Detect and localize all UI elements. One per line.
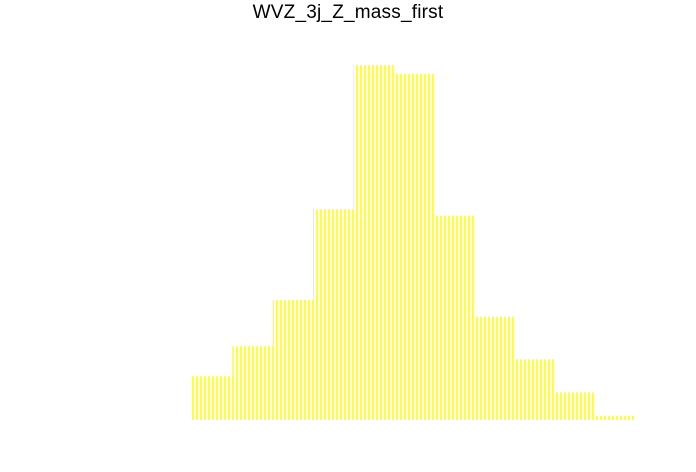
chart-canvas: WVZ_3j_Z_mass_first xyxy=(0,0,696,472)
bar xyxy=(434,216,474,420)
bar xyxy=(394,74,434,420)
bar xyxy=(232,346,272,420)
series-WZ xyxy=(192,65,636,420)
histogram-plot xyxy=(0,0,696,472)
bars-group xyxy=(192,65,636,420)
bar xyxy=(353,65,393,420)
bar xyxy=(192,376,232,420)
bar xyxy=(273,300,313,420)
bar xyxy=(313,209,353,420)
bar xyxy=(595,416,635,420)
bar xyxy=(555,392,595,420)
bar xyxy=(474,317,514,420)
bar xyxy=(515,359,555,420)
